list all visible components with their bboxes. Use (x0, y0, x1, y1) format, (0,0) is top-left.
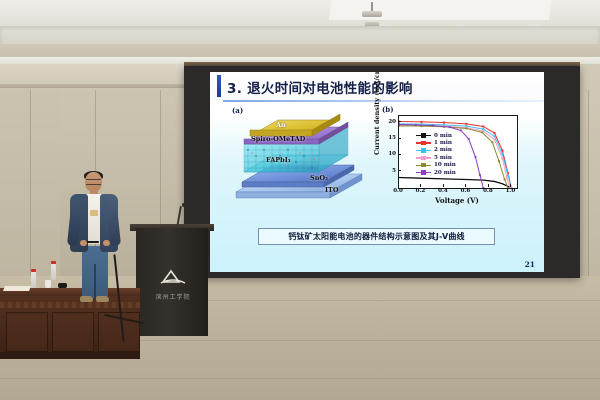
chart-legend-item: 5 min (416, 154, 456, 161)
chart-marker (420, 121, 422, 123)
chart-y-tick-mark (398, 138, 401, 139)
chart-legend-label: 0 min (434, 133, 452, 139)
water-bottle (51, 264, 56, 280)
presenter-hand-right (103, 240, 110, 246)
layer-label-spiro-ometad: Spiro-OMeTAD (251, 135, 305, 143)
jv-curve-chart: (b) Current density (mA/cm²) Voltage (V)… (368, 106, 534, 210)
chart-legend-swatch (416, 172, 431, 173)
slide-caption-text: 钙钛矿太阳能电池的器件结构示意图及其J-V曲线 (288, 231, 465, 242)
presenter-glasses-icon (86, 179, 101, 185)
panel-a-label: (a) (232, 106, 243, 115)
chart-marker (494, 135, 496, 137)
chart-marker (498, 160, 500, 162)
water-bottle-cap (51, 261, 56, 264)
chart-legend-label: 1 min (434, 140, 452, 146)
chart-legend-item: 0 min (416, 132, 456, 139)
chart-legend-marker (421, 170, 426, 175)
chart-marker (479, 174, 481, 176)
device-structure-diagram: (a) (228, 108, 368, 204)
water-bottle-cap (31, 269, 36, 272)
chart-marker (494, 132, 496, 134)
chart-legend-item: 10 min (416, 162, 456, 169)
chart-marker (465, 123, 467, 125)
chart-y-tick-label: 20 (386, 119, 396, 125)
chart-legend-label: 10 min (434, 162, 456, 168)
paper-cup (45, 280, 51, 288)
chart-x-tick-label: 1.0 (506, 188, 516, 194)
chart-marker (460, 129, 462, 131)
floor-seam (0, 378, 600, 379)
chart-legend-label: 2 min (434, 147, 452, 153)
chart-marker (443, 122, 445, 124)
presenter-shoe (96, 296, 109, 302)
title-accent-bar (217, 75, 221, 97)
chart-marker (504, 178, 506, 180)
chart-legend-label: 20 min (434, 170, 456, 176)
chart-y-tick-mark (398, 121, 401, 122)
chart-legend-swatch (416, 157, 431, 158)
chart-y-tick-label: 10 (386, 151, 396, 157)
title-divider (223, 100, 544, 102)
chart-legend-item: 2 min (416, 147, 456, 154)
lectern-institution-text: 滨州工学院 (142, 292, 204, 301)
layer-label-fapbi3: FAPbI₃ (266, 156, 291, 164)
chart-marker (494, 139, 496, 141)
chart-marker (468, 138, 470, 140)
chart-x-tick-mark (488, 184, 489, 187)
chart-marker (491, 141, 493, 143)
chart-marker (481, 131, 483, 133)
chart-legend-label: 5 min (434, 155, 452, 161)
projector-mount-plate (362, 11, 382, 17)
lectern-microphone-icon (182, 203, 186, 207)
chart-marker (432, 124, 434, 126)
chart-x-tick-label: 0.6 (461, 188, 471, 194)
chart-legend-swatch (416, 165, 431, 166)
chart-legend-swatch (416, 135, 431, 136)
device-stack-svg (228, 108, 368, 204)
chart-x-tick-mark (443, 184, 444, 187)
chart-marker (482, 125, 484, 127)
presenter (66, 172, 122, 308)
chart-marker (415, 124, 417, 126)
chart-legend-marker (421, 163, 426, 168)
chart-legend-swatch (416, 142, 431, 143)
chart-marker (465, 127, 467, 129)
front-table-panel (52, 312, 94, 352)
chart-marker (449, 126, 451, 128)
ceiling-soffit (0, 26, 600, 46)
slide-title: 3. 退火时间对电池性能的影响 (227, 77, 413, 97)
chart-x-tick-label: 0.0 (393, 188, 403, 194)
slide-page-number: 21 (525, 260, 535, 269)
front-table-base (0, 352, 140, 359)
chart-legend-item: 20 min (416, 169, 456, 176)
chart-y-tick-label: 5 (386, 168, 396, 174)
water-bottle (31, 272, 36, 288)
ceiling-panel (329, 0, 551, 20)
presenter-shoe (80, 296, 93, 302)
layer-label-sno2: SnO₂ (310, 174, 328, 182)
chart-marker (506, 177, 508, 179)
chart-y-tick-label: 15 (386, 135, 396, 141)
laser-pointer (86, 241, 99, 243)
chart-marker (501, 158, 503, 160)
chart-legend-swatch (416, 150, 431, 151)
institution-logo-icon (160, 268, 186, 284)
screenshot-root: 3. 退火时间对电池性能的影响 (a) (0, 0, 600, 400)
chart-legend: 0 min1 min2 min5 min10 min20 min (416, 132, 456, 176)
presenter-shirt-graphic (90, 210, 98, 216)
chart-marker (399, 124, 400, 126)
chart-marker (501, 153, 503, 155)
chart-legend-marker (421, 141, 426, 146)
chart-x-tick-mark (510, 184, 511, 187)
chart-x-tick-mark (398, 184, 399, 187)
chart-marker (482, 128, 484, 130)
presentation-slide[interactable]: 3. 退火时间对电池性能的影响 (a) (210, 72, 544, 272)
chart-x-tick-mark (465, 184, 466, 187)
wall-seam (588, 90, 589, 276)
layer-label-ito: ITO (325, 186, 339, 194)
chart-legend-marker (421, 148, 426, 153)
chart-y-tick-mark (398, 154, 401, 155)
chart-x-tick-label: 0.2 (416, 188, 426, 194)
presenter-hand-left (80, 240, 87, 246)
chart-series-0-min (399, 178, 511, 188)
wall-seam (30, 90, 31, 276)
chart-x-tick-label: 0.8 (483, 188, 493, 194)
slide-caption: 钙钛矿太阳能电池的器件结构示意图及其J-V曲线 (258, 228, 495, 245)
chart-legend-marker (421, 133, 426, 138)
presenter-leg-separation (94, 264, 96, 298)
chart-marker (501, 149, 503, 151)
chart-y-tick-mark (398, 170, 401, 171)
chart-y-axis-title: Current density (mA/cm²) (373, 93, 381, 155)
front-table-panel (6, 312, 48, 352)
chart-x-tick-label: 0.4 (438, 188, 448, 194)
chart-legend-marker (421, 156, 426, 161)
chart-legend-item: 1 min (416, 139, 456, 146)
chart-marker (507, 175, 509, 177)
chart-marker (474, 156, 476, 158)
panel-b-label: (b) (382, 105, 394, 114)
chart-x-axis-title: Voltage (V) (398, 196, 516, 205)
layer-label-au: Au (276, 121, 286, 129)
document-paper (3, 286, 31, 291)
chart-x-tick-mark (420, 184, 421, 187)
